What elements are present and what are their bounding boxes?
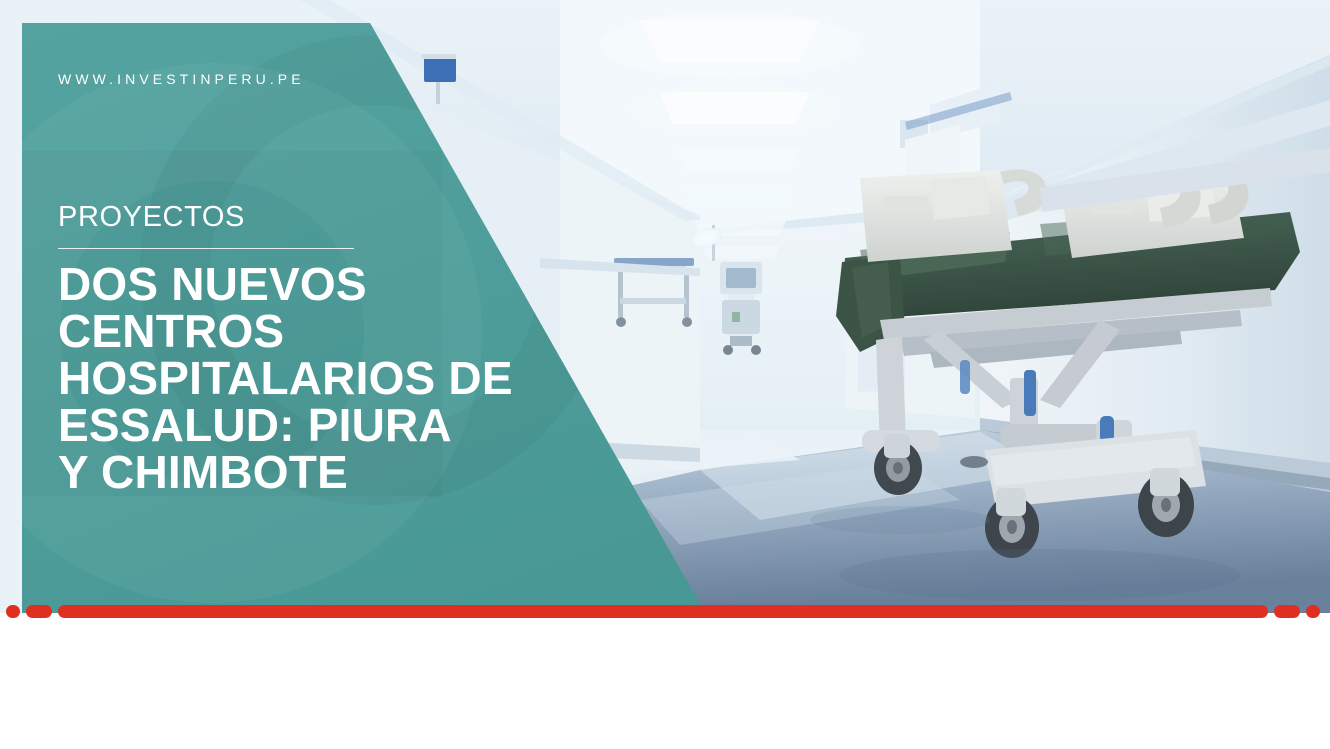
headline-line: Y CHIMBOTE	[58, 449, 678, 496]
headline-line: ESSALUD: PIURA	[58, 402, 678, 449]
footer-logo-bar: REPÚBLICA DEL PERÚ	[0, 623, 1330, 749]
hero-section: WWW.INVESTINPERU.PE PROYECTOS DOS NUEVOS…	[0, 0, 1330, 613]
presentation-slide: WWW.INVESTINPERU.PE PROYECTOS DOS NUEVOS…	[0, 0, 1330, 749]
site-url-text: WWW.INVESTINPERU.PE	[58, 71, 305, 87]
rule-segment	[1274, 605, 1300, 618]
eyebrow-label: PROYECTOS	[58, 201, 245, 234]
rule-segment	[1306, 605, 1320, 618]
rule-segment	[26, 605, 52, 618]
rule-segment	[6, 605, 20, 618]
eyebrow-divider	[58, 248, 354, 249]
rule-segment	[58, 605, 1268, 618]
red-accent-rule	[0, 605, 1330, 623]
